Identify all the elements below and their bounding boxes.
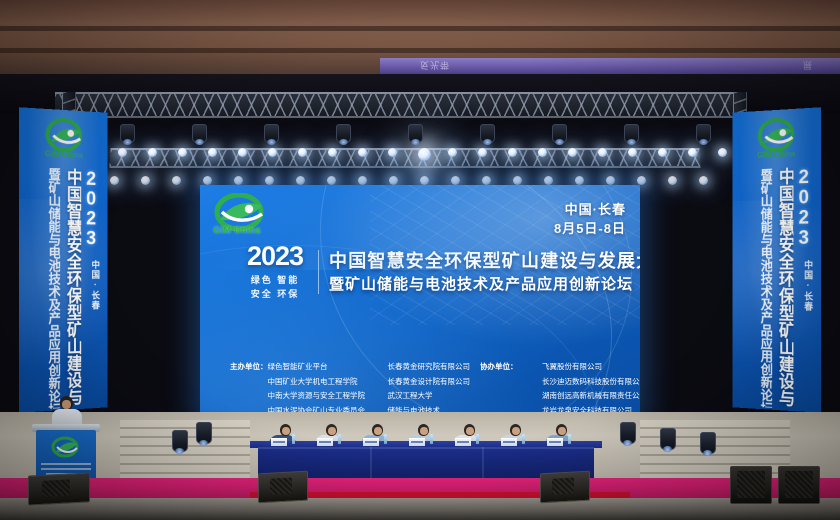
lighting-truss-lower xyxy=(109,148,700,168)
gim-china-logo-icon: GIM China xyxy=(42,117,86,161)
spotlight xyxy=(358,176,367,185)
spotlight xyxy=(575,176,584,185)
coorganizer-list: 飞翼股份有限公司长沙迪迈数码科技股份有限公司湖南创远高新机械有限责任公司龙岩龙泉… xyxy=(542,360,640,420)
spotlight xyxy=(296,176,305,185)
spotlight xyxy=(328,148,337,157)
spotlight xyxy=(172,176,181,185)
screen-year: 2023 xyxy=(242,243,308,270)
reflected-text-left: 反光带 xyxy=(420,59,450,72)
panel-member-face xyxy=(420,427,428,435)
stage-moving-head-light xyxy=(620,422,636,444)
slogan-line-2: 安全 环保 xyxy=(242,288,308,302)
organizers-right: 协办单位： 飞翼股份有限公司长沙迪迈数码科技股份有限公司湖南创远高新机械有限责任… xyxy=(480,360,640,420)
coorganizer-name: 湖南创远高新机械有限责任公司 xyxy=(542,389,640,404)
moving-head-light xyxy=(624,124,639,143)
side-banner-right: GIM China 2023 中国·长春 中国智慧安全环保型矿山建设与发展大会 … xyxy=(733,107,821,413)
moving-head-light xyxy=(264,124,279,143)
spotlight xyxy=(203,176,212,185)
subwoofer-speaker xyxy=(730,466,772,504)
side-banner-year: 2023 xyxy=(794,167,813,248)
spotlight xyxy=(418,148,431,161)
spotlight xyxy=(358,148,367,157)
name-card xyxy=(455,438,471,446)
spotlight xyxy=(568,148,577,157)
coorganizer-label: 协办单位： xyxy=(480,360,542,420)
spotlight xyxy=(628,148,637,157)
host-label: 主办单位： xyxy=(230,360,268,419)
spotlight xyxy=(658,148,667,157)
spotlight xyxy=(508,148,517,157)
side-banner-title: 中国智慧安全环保型矿山建设与发展大会 xyxy=(777,167,793,407)
floor-monitor xyxy=(28,472,90,505)
screen-year-block: 2023 绿色 智能 安全 环保 xyxy=(242,243,308,301)
spotlight xyxy=(238,148,247,157)
screen-dates: 8月5日-8日 xyxy=(554,220,626,239)
moving-head-light xyxy=(696,124,711,143)
logo-text-cn: China xyxy=(234,225,261,235)
podium-text-line xyxy=(41,468,91,470)
spotlight xyxy=(118,148,127,157)
podium-text-line xyxy=(41,463,91,465)
panel-member-face xyxy=(374,427,382,435)
spotlight xyxy=(448,148,457,157)
screen-slogan: 绿色 智能 安全 环保 xyxy=(242,274,308,301)
front-stage-edge xyxy=(0,498,840,520)
spotlight xyxy=(482,176,491,185)
spotlight xyxy=(265,176,274,185)
spotlight xyxy=(234,176,243,185)
spotlight xyxy=(699,176,708,185)
name-card xyxy=(409,438,425,446)
logo-text-en: GIM xyxy=(213,225,231,235)
spotlight xyxy=(327,176,336,185)
title-divider xyxy=(318,250,319,294)
screen-location-block: 中国·长春 8月5日-8日 xyxy=(554,201,626,239)
stage-moving-head-light xyxy=(196,422,212,444)
panel-member-head xyxy=(280,424,291,436)
side-banner-title: 中国智慧安全环保型矿山建设与发展大会 xyxy=(65,168,81,406)
spotlight xyxy=(178,148,187,157)
host-organization: 中南大学资源与安全工程学院 xyxy=(268,389,388,404)
name-card xyxy=(501,438,517,446)
spotlight xyxy=(598,148,607,157)
side-banner-year: 2023 xyxy=(82,169,100,248)
moving-head-light xyxy=(552,124,567,143)
spotlight xyxy=(208,148,217,157)
floor-monitor xyxy=(258,471,308,504)
organizers-left: 主办单位： 绿色智能矿业平台中国矿业大学机电工程学院中南大学资源与安全工程学院中… xyxy=(230,360,480,420)
moving-head-light xyxy=(408,124,423,143)
floor-monitor xyxy=(540,471,590,504)
ceiling-beam xyxy=(0,26,840,31)
panel-member-head xyxy=(418,424,429,436)
water-bottle xyxy=(292,434,295,444)
ceiling-beam xyxy=(0,48,840,53)
panel-member-face xyxy=(466,427,474,435)
conference-subtitle: 暨矿山储能与电池技术及产品应用创新论坛 xyxy=(329,275,640,295)
water-bottle xyxy=(568,434,571,444)
host-organization: 中国矿业大学机电工程学院 xyxy=(268,375,388,390)
slogan-line-1: 绿色 智能 xyxy=(242,274,308,288)
spotlight xyxy=(718,148,727,157)
stage-moving-head-light xyxy=(700,432,716,454)
moving-head-light xyxy=(120,124,135,143)
name-card xyxy=(271,438,287,446)
name-card xyxy=(317,438,333,446)
spotlight xyxy=(513,176,522,185)
speaker-face xyxy=(62,400,71,409)
podium-logo-icon xyxy=(51,436,81,460)
name-card xyxy=(547,438,563,446)
spotlight xyxy=(688,148,697,157)
spotlight xyxy=(298,148,307,157)
side-banner-subtitle: 暨矿山储能与电池技术及产品应用创新论坛 xyxy=(760,168,772,408)
screen-title-row: 2023 绿色 智能 安全 环保 中国智慧安全环保型矿山建设与发展大会 暨矿山储… xyxy=(242,243,640,301)
host-organization: 绿色智能矿业平台 xyxy=(268,360,388,375)
host-row: 主办单位： 绿色智能矿业平台中国矿业大学机电工程学院中南大学资源与安全工程学院中… xyxy=(230,360,480,419)
panel-member-face xyxy=(328,427,336,435)
panel-member-head xyxy=(464,424,475,436)
organizers-area: 主办单位： 绿色智能矿业平台中国矿业大学机电工程学院中南大学资源与安全工程学院中… xyxy=(230,360,626,420)
water-bottle xyxy=(384,434,387,444)
svg-text:GIM China: GIM China xyxy=(757,149,796,160)
screen-title-block: 中国智慧安全环保型矿山建设与发展大会 暨矿山储能与电池技术及产品应用创新论坛 xyxy=(329,250,640,294)
side-banner-subtitle: 暨矿山储能与电池技术及产品应用创新论坛 xyxy=(48,167,61,409)
spotlight xyxy=(141,176,150,185)
panel-member-head xyxy=(510,424,521,436)
coorganizer-name: 飞翼股份有限公司 xyxy=(542,360,640,375)
subwoofer-speaker xyxy=(778,466,820,504)
panel-member-head xyxy=(372,424,383,436)
spotlight xyxy=(637,176,646,185)
side-banner-city: 中国·长春 xyxy=(90,260,102,310)
gim-logo-wordmark: GIM China xyxy=(204,225,270,235)
panel-member-face xyxy=(558,427,566,435)
conference-title: 中国智慧安全环保型矿山建设与发展大会 xyxy=(329,250,640,273)
water-bottle xyxy=(476,434,479,444)
water-bottle xyxy=(522,434,525,444)
spotlight xyxy=(478,148,487,157)
stage-moving-head-light xyxy=(172,430,188,452)
reflected-text-right: 展 xyxy=(803,59,812,72)
spotlight xyxy=(538,148,547,157)
host-column-a: 绿色智能矿业平台中国矿业大学机电工程学院中南大学资源与安全工程学院中国水泥协会矿… xyxy=(268,360,388,419)
moving-head-light xyxy=(192,124,207,143)
panel-member-face xyxy=(512,427,520,435)
screen-location: 中国·长春 xyxy=(554,201,626,220)
host-columns: 绿色智能矿业平台中国矿业大学机电工程学院中南大学资源与安全工程学院中国水泥协会矿… xyxy=(268,360,498,419)
lighting-truss-upper xyxy=(55,92,745,118)
spotlight xyxy=(668,176,677,185)
name-card xyxy=(363,438,379,446)
spotlight xyxy=(110,176,119,185)
moving-head-light xyxy=(336,124,351,143)
moving-head-light xyxy=(480,124,495,143)
spotlight xyxy=(268,148,277,157)
stage-moving-head-light xyxy=(660,428,676,450)
spotlight xyxy=(451,176,460,185)
water-bottle xyxy=(430,434,433,444)
water-bottle xyxy=(338,434,341,444)
panel-member-head xyxy=(326,424,337,436)
spotlight xyxy=(148,148,157,157)
svg-text:GIM China: GIM China xyxy=(45,149,84,160)
panel-member-face xyxy=(282,427,290,435)
reflective-ceiling-strip: 反光带 展 xyxy=(380,58,840,74)
spotlight xyxy=(420,176,429,185)
main-led-screen: GIM China 中国·长春 8月5日-8日 2023 绿色 智能 安全 环保… xyxy=(200,185,640,420)
conference-stage-photo: 反光带 展 GIM China 2023 中国·长春 中国智慧安全环保型矿山建设… xyxy=(0,0,840,520)
side-banner-city: 中国·长春 xyxy=(802,260,815,312)
side-banner-left: GIM China 2023 中国·长春 中国智慧安全环保型矿山建设与发展大会 … xyxy=(19,107,107,413)
gim-china-logo-icon: GIM China xyxy=(754,117,798,161)
spotlight xyxy=(389,176,398,185)
spotlight xyxy=(544,176,553,185)
coorganizer-row: 协办单位： 飞翼股份有限公司长沙迪迈数码科技股份有限公司湖南创远高新机械有限责任… xyxy=(480,360,640,420)
spotlight xyxy=(606,176,615,185)
panel-member-head xyxy=(556,424,567,436)
spotlight xyxy=(388,148,397,157)
coorganizer-name: 长沙迪迈数码科技股份有限公司 xyxy=(542,375,640,390)
